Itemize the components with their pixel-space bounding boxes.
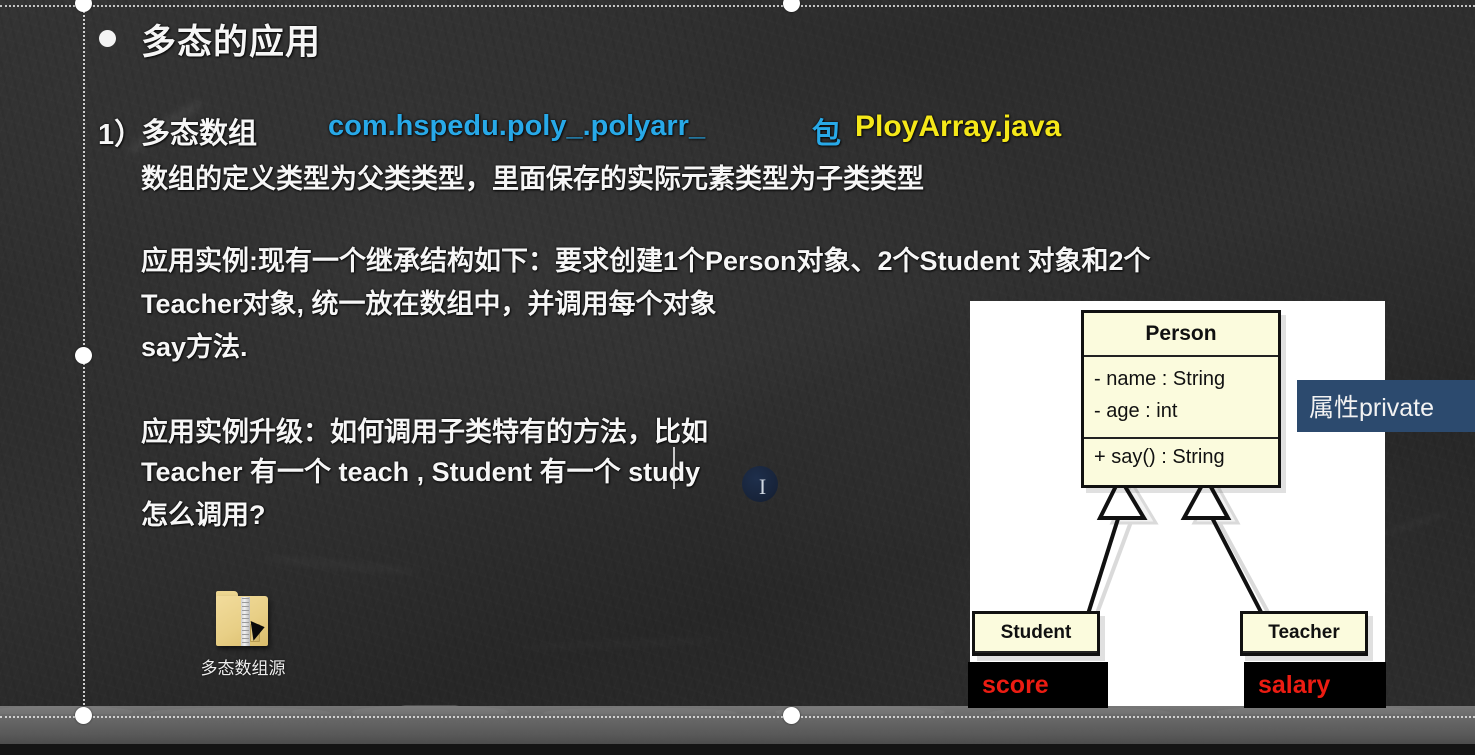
uml-operation: + say() : String: [1094, 446, 1278, 469]
uml-teacher-field: salary: [1244, 662, 1386, 708]
paragraph2-line1: 应用实例升级：如何调用子类特有的方法，比如: [141, 411, 708, 454]
uml-class-person[interactable]: Person - name : String - age : int + say…: [1081, 310, 1281, 488]
list-item-number: 1）: [98, 111, 143, 153]
package-path-text: com.hspedu.poly_.polyarr_: [328, 110, 705, 143]
resize-handle-middle-left[interactable]: [75, 347, 92, 364]
folder-label: 多态数组源: [188, 654, 298, 679]
list-item-title: 多态数组: [141, 110, 257, 152]
uml-person-attributes: - name : String - age : int: [1084, 357, 1278, 439]
uml-attribute: - name : String: [1094, 363, 1278, 395]
uml-student-name: Student: [975, 614, 1097, 653]
resize-handle-bottom-left[interactable]: [75, 707, 92, 724]
zipper-teeth: [242, 598, 249, 645]
desktop-folder-item[interactable]: 多态数组源: [188, 590, 298, 679]
bottom-bar: [0, 744, 1475, 755]
arrow-cursor-icon: [251, 619, 267, 641]
board-ledge: [0, 706, 1475, 744]
uml-person-operations: + say() : String: [1084, 439, 1278, 469]
uml-student-field: score: [968, 662, 1108, 708]
text-caret: [673, 447, 675, 489]
slide-screen: 多态的应用 1） 多态数组 com.hspedu.poly_.polyarr_ …: [0, 0, 1475, 755]
uml-class-student[interactable]: Student: [972, 611, 1100, 656]
resize-handle-bottom-center[interactable]: [783, 707, 800, 724]
paragraph1-line3: say方法.: [141, 326, 248, 369]
item-subtitle: 数组的定义类型为父类类型，里面保存的实际元素类型为子类类型: [141, 157, 924, 196]
tooltip-private-attribute: 属性private: [1297, 380, 1475, 432]
paragraph2-line3: 怎么调用?: [141, 494, 266, 537]
package-word-text: 包: [812, 110, 841, 152]
uml-class-teacher[interactable]: Teacher: [1240, 611, 1368, 656]
java-file-name: PloyArray.java: [855, 110, 1061, 144]
selection-frame-bottom[interactable]: [0, 716, 1475, 718]
uml-attribute: - age : int: [1094, 395, 1278, 427]
paragraph2-line2: Teacher 有一个 teach , Student 有一个 study: [141, 451, 700, 494]
uml-person-name: Person: [1084, 313, 1278, 357]
uml-teacher-name: Teacher: [1243, 614, 1365, 653]
selection-frame-top[interactable]: [0, 5, 1475, 7]
paragraph1-line2: Teacher对象, 统一放在数组中，并调用每个对象: [141, 283, 717, 326]
bullet-dot-icon: [99, 30, 116, 47]
ibeam-cursor-icon: I: [757, 474, 768, 500]
paragraph1-line1: 应用实例:现有一个继承结构如下：要求创建1个Person对象、2个Student…: [141, 240, 1151, 283]
page-title: 多态的应用: [141, 14, 321, 65]
